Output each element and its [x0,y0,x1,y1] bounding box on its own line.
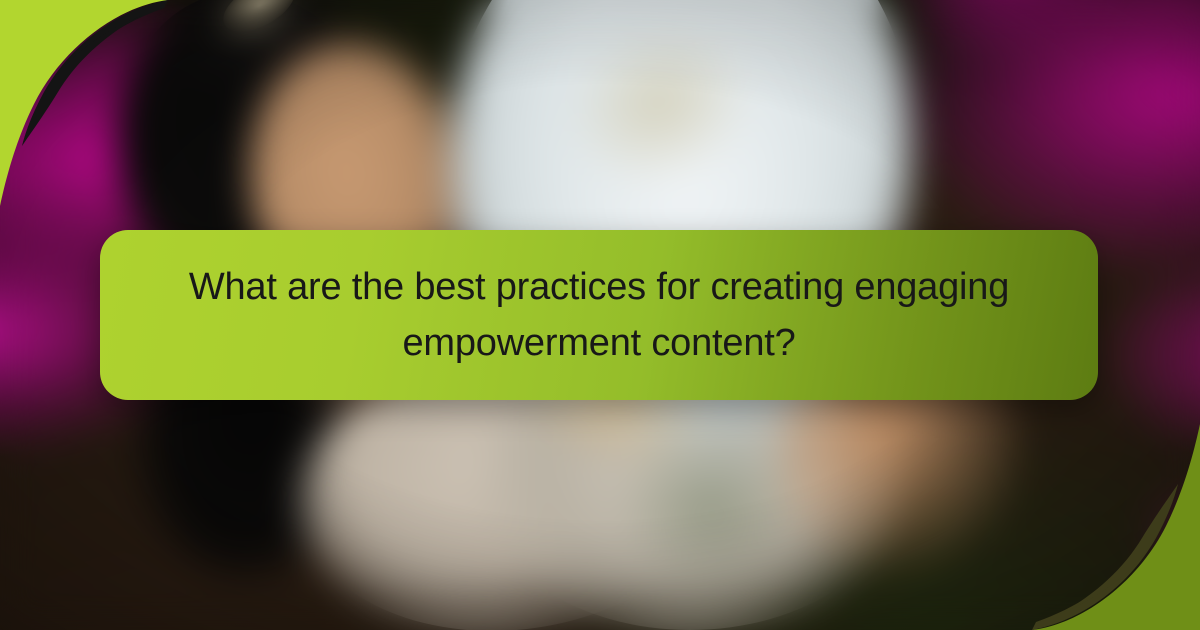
social-card-canvas: What are the best practices for creating… [0,0,1200,630]
question-card: What are the best practices for creating… [100,230,1098,400]
question-text: What are the best practices for creating… [156,259,1042,371]
